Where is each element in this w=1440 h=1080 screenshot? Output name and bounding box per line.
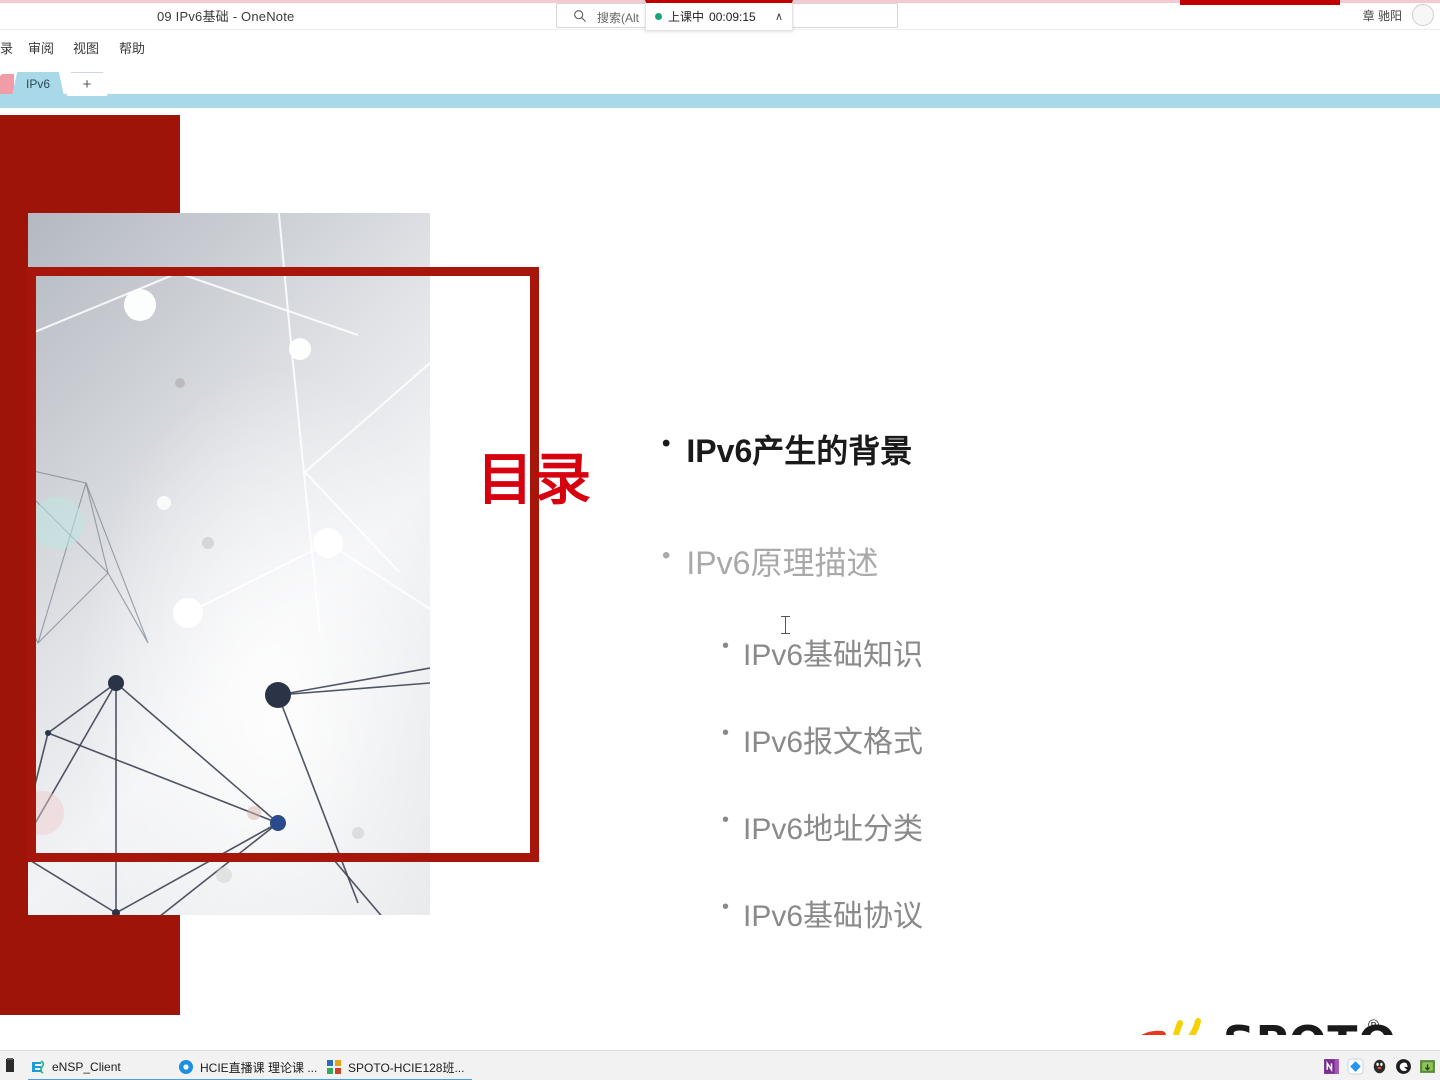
bullet-ipv6-principle[interactable]: • IPv6原理描述 <box>662 538 878 584</box>
text-cursor-icon <box>785 616 786 634</box>
menu-item-bangzhu[interactable]: 帮助 <box>119 38 145 57</box>
ensp-icon <box>30 1059 46 1075</box>
desktop-root: 09 IPv6基础 - OneNote 搜索(Alt 章 驰阳 上课中 00:0… <box>0 0 1440 1080</box>
page-title: 目录 <box>477 453 593 509</box>
qq-icon[interactable] <box>1371 1058 1388 1075</box>
taskbar-item-ensp[interactable]: eNSP_Client <box>28 1055 178 1080</box>
tab-ipv6[interactable]: IPv6 <box>12 72 64 96</box>
taskbar-item-spoto-class[interactable]: SPOTO-HCIE128班... <box>324 1055 472 1080</box>
snail-logo-icon <box>1118 1017 1218 1035</box>
class-status-label: 上课中 <box>668 8 704 25</box>
search-icon <box>573 9 587 23</box>
bullet-ipv6-address-types[interactable]: • IPv6地址分类 <box>722 804 923 848</box>
onenote-icon[interactable] <box>1323 1058 1340 1075</box>
media-icon <box>178 1059 194 1075</box>
menu-bar: 录 审阅 视图 帮助 <box>0 31 1440 61</box>
network-photo <box>28 213 430 915</box>
bullet-label: IPv6基础知识 <box>743 630 923 674</box>
bullet-dot-icon: • <box>722 723 729 743</box>
bullet-dot-icon: • <box>662 544 670 568</box>
class-status-overlay[interactable]: 上课中 00:09:15 ∧ <box>645 0 793 31</box>
bullet-label: IPv6报文格式 <box>743 717 923 761</box>
bullet-dot-icon: • <box>722 897 729 917</box>
spoto-icon <box>326 1059 342 1075</box>
bullet-label: IPv6基础协议 <box>743 891 923 935</box>
bullet-label: IPv6产生的背景 <box>686 426 912 472</box>
search-input[interactable]: 搜索(Alt <box>597 9 639 26</box>
greenapp-icon[interactable] <box>1419 1058 1436 1075</box>
user-name-label: 章 驰阳 <box>1363 7 1402 24</box>
bullet-ipv6-protocols[interactable]: • IPv6基础协议 <box>722 891 923 935</box>
tab-strip: IPv6 + <box>0 64 1440 108</box>
taskbar-item-label: SPOTO-HCIE128班... <box>348 1059 464 1076</box>
bullet-dot-icon: • <box>662 432 670 456</box>
taskbar: eNSP_Client HCIE直播课 理论课 ... SPOTO-HCIE12… <box>0 1050 1440 1080</box>
system-tray <box>1323 1055 1436 1077</box>
chevron-up-icon[interactable]: ∧ <box>775 10 783 23</box>
registered-mark-icon: ® <box>1368 1017 1379 1034</box>
top-red-strip <box>1180 0 1340 5</box>
status-dot-icon <box>655 13 662 20</box>
avatar[interactable] <box>1412 4 1434 26</box>
bullet-dot-icon: • <box>722 636 729 656</box>
bullet-ipv6-packet-format[interactable]: • IPv6报文格式 <box>722 717 923 761</box>
bullet-ipv6-background[interactable]: • IPv6产生的背景 <box>662 426 912 472</box>
slide-canvas: 目录 • IPv6产生的背景 • IPv6原理描述 • IPv6基础知识 • I… <box>0 110 1440 1035</box>
gamecenter-icon[interactable] <box>1395 1058 1412 1075</box>
menu-item-shitu[interactable]: 视图 <box>73 38 99 57</box>
taskbar-item-hcie-live[interactable]: HCIE直播课 理论课 ... <box>176 1055 324 1080</box>
add-tab-button[interactable]: + <box>66 72 108 96</box>
taskbar-item-label: eNSP_Client <box>52 1060 121 1074</box>
taskbar-item-label: HCIE直播课 理论课 ... <box>200 1059 317 1076</box>
bullet-ipv6-basics[interactable]: • IPv6基础知识 <box>722 630 923 674</box>
spoto-logo: SPOTO ® 思博在线大学 <box>1118 1015 1393 1035</box>
tab-pink-marker <box>0 74 14 94</box>
bullet-dot-icon: • <box>722 810 729 830</box>
bullet-label: IPv6原理描述 <box>686 538 878 584</box>
network-graphic <box>28 213 430 915</box>
tab-band <box>0 94 1440 108</box>
menu-item-lu[interactable]: 录 <box>0 38 13 57</box>
class-timer: 00:09:15 <box>709 10 756 24</box>
start-button-icon[interactable] <box>3 1058 17 1074</box>
bullet-label: IPv6地址分类 <box>743 804 923 848</box>
slide-bottom-gap <box>0 1035 1440 1050</box>
sync-icon[interactable] <box>1347 1058 1364 1075</box>
menu-item-shenyue[interactable]: 审阅 <box>28 38 54 57</box>
window-title: 09 IPv6基础 - OneNote <box>157 6 294 25</box>
